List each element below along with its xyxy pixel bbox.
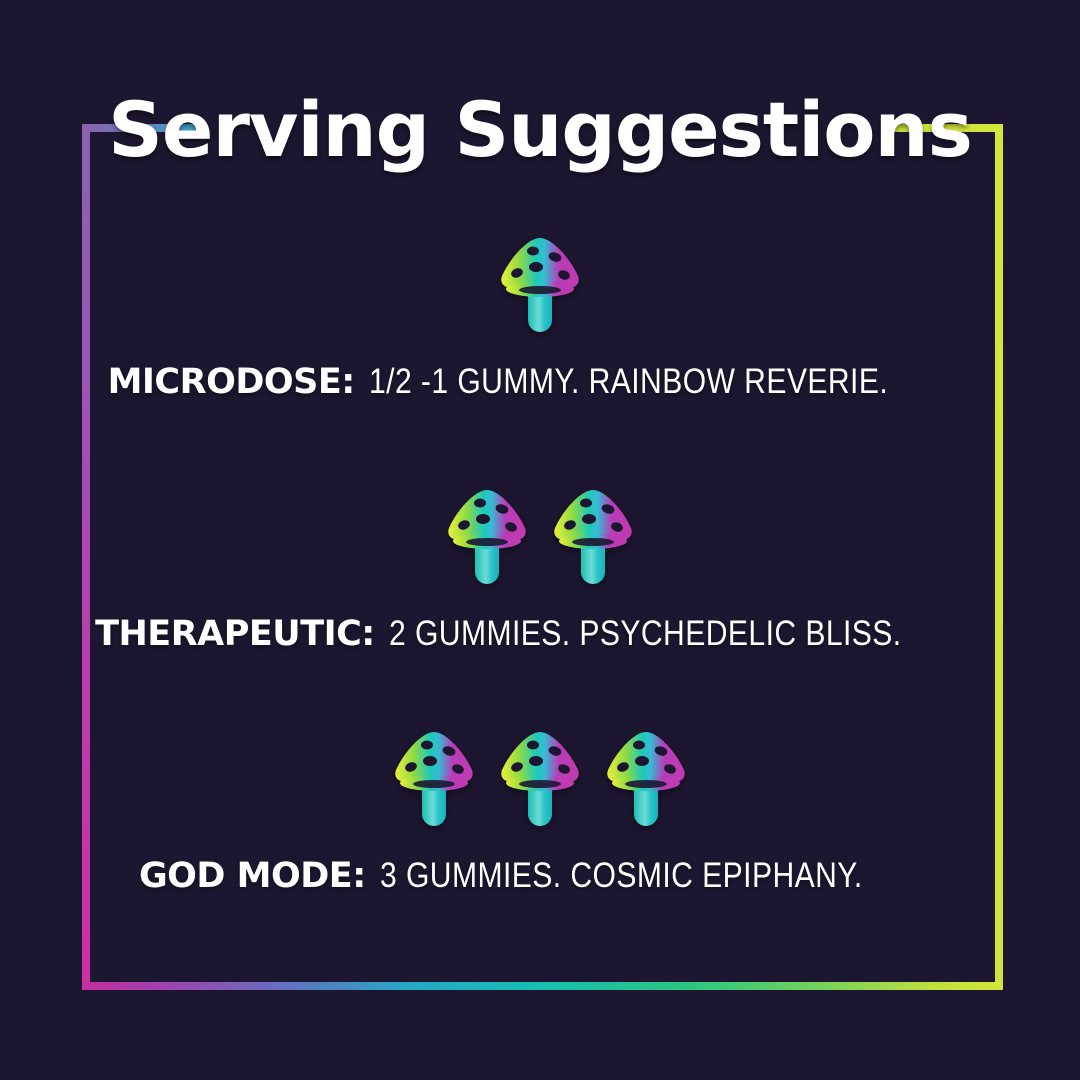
mushroom-icon [494,232,586,336]
dose-line: GOD MODE:3 GUMMIES. COSMIC EPIPHANY. [0,856,1080,896]
dose-block-microdose: MICRODOSE:1/2 -1 GUMMY. RAINBOW REVERIE. [0,232,1080,402]
page-title: Serving Suggestions [0,80,1080,180]
dose-label: THERAPEUTIC: [95,614,375,654]
mushroom-icon-row [0,484,1080,588]
serving-suggestions-poster: Serving Suggestions [0,0,1080,1080]
mushroom-icon-row [0,232,1080,336]
mushroom-icon-row [0,726,1080,830]
dose-label: GOD MODE: [139,856,366,896]
dose-block-therapeutic: THERAPEUTIC:2 GUMMIES. PSYCHEDELIC BLISS… [0,484,1080,654]
mushroom-icon [388,726,480,830]
dose-block-god-mode: GOD MODE:3 GUMMIES. COSMIC EPIPHANY. [0,726,1080,896]
dose-value: 1/2 -1 GUMMY. RAINBOW REVERIE. [369,362,888,402]
mushroom-icon [547,484,639,588]
mushroom-icon [441,484,533,588]
dose-line: MICRODOSE:1/2 -1 GUMMY. RAINBOW REVERIE. [0,362,1080,402]
mushroom-icon [494,726,586,830]
mushroom-icon [600,726,692,830]
dose-value: 3 GUMMIES. COSMIC EPIPHANY. [380,856,863,896]
dose-label: MICRODOSE: [108,362,355,402]
dose-line: THERAPEUTIC:2 GUMMIES. PSYCHEDELIC BLISS… [0,614,1080,654]
dose-value: 2 GUMMIES. PSYCHEDELIC BLISS. [389,614,902,654]
frame-bottom-segment [82,982,1003,990]
